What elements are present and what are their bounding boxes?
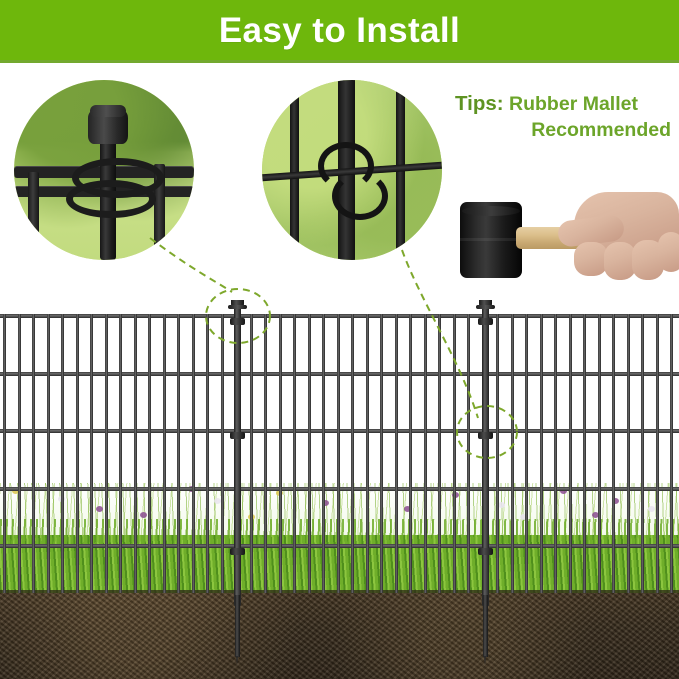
fence-bar: [351, 314, 354, 593]
header-banner: Easy to Install: [0, 0, 679, 60]
fence-bar: [569, 314, 572, 593]
fence-bar: [337, 314, 340, 593]
fence-bar: [32, 314, 35, 593]
fence-bar: [105, 314, 108, 593]
fence-bar: [395, 314, 398, 593]
tips-line-2: Recommended: [455, 118, 679, 144]
fence-post-2: [482, 306, 489, 606]
fence-bar: [409, 314, 412, 593]
rubber-mallet-illustration: [452, 190, 679, 290]
post-clip-1-2: [230, 432, 245, 439]
fence-rail-2: [0, 372, 679, 376]
banner-underline: [0, 60, 679, 63]
tips-label: Tips:: [455, 92, 504, 115]
fence-bar: [148, 314, 151, 593]
fence-bar: [90, 314, 93, 593]
fence-bar: [670, 314, 673, 593]
ground-stake-1: [235, 595, 240, 657]
fence-bar: [598, 314, 601, 593]
fence-bar: [192, 314, 195, 593]
page-title: Easy to Install: [219, 13, 460, 48]
fence-bar: [250, 314, 253, 593]
detail-s-hook-lower: [332, 172, 388, 220]
fence-bar: [540, 314, 543, 593]
fence-bar: [308, 314, 311, 593]
post-clip-2-1: [478, 318, 493, 325]
fence-bar: [177, 314, 180, 593]
post-clip-1-1: [230, 318, 245, 325]
fence-rail-1: [0, 314, 679, 318]
callout-circle-post-cap: [14, 80, 194, 260]
fence-bar: [554, 314, 557, 593]
finger-index: [574, 242, 608, 276]
tips-line-1-text: Rubber Mallet: [509, 93, 638, 115]
fence-bar: [438, 314, 441, 593]
detail-mesh-bar-1: [290, 80, 299, 260]
post-clip-1-3: [230, 548, 245, 555]
fence-bar: [583, 314, 586, 593]
detail-post-cap-nut: [88, 110, 128, 144]
fence-bar: [3, 314, 6, 593]
fence-bar: [627, 314, 630, 593]
fence-bar: [612, 314, 615, 593]
fence-bar: [61, 314, 64, 593]
post-cap-1: [231, 300, 244, 306]
fence-bar: [424, 314, 427, 593]
post-cap-2: [479, 300, 492, 306]
fence-bar: [496, 314, 499, 593]
fence-rail-3: [0, 429, 679, 433]
product-infographic: Easy to Install Tips: Rubber Mallet Reco…: [0, 0, 679, 679]
detail-clip-loop-lower: [66, 180, 156, 218]
fence-bar: [47, 314, 50, 593]
fence-rail-5: [0, 544, 679, 548]
fence-bar: [366, 314, 369, 593]
fence-bar: [525, 314, 528, 593]
ground-stake-2: [483, 595, 488, 657]
fence-bar: [656, 314, 659, 593]
fence-bar: [119, 314, 122, 593]
fence-scene: [0, 300, 679, 679]
post-clip-2-2: [478, 432, 493, 439]
fence-bar: [641, 314, 644, 593]
fence-bar: [134, 314, 137, 593]
detail-mesh-bar-left: [28, 172, 39, 260]
fence-bar: [163, 314, 166, 593]
finger-pinky: [658, 232, 679, 272]
mallet-head: [460, 202, 522, 278]
fence-bar: [322, 314, 325, 593]
callout-circle-s-hook: [262, 80, 442, 260]
fence-rail-4: [0, 487, 679, 491]
fence-bar: [18, 314, 21, 593]
fence-bar: [76, 314, 79, 593]
tips-line-2-text: Recommended: [531, 119, 671, 141]
post-clip-2-3: [478, 548, 493, 555]
fence-bar: [206, 314, 209, 593]
fence-post-1: [234, 306, 241, 606]
fence-bar: [453, 314, 456, 593]
fence-bar: [511, 314, 514, 593]
tips-text: Tips: Rubber Mallet Recommended: [455, 90, 679, 143]
fence-bar: [380, 314, 383, 593]
tips-line-1: Tips: Rubber Mallet: [455, 90, 679, 118]
fence-bar: [221, 314, 224, 593]
fence-bar: [264, 314, 267, 593]
fence-bar: [293, 314, 296, 593]
fence-panels: [0, 300, 679, 679]
fence-bar: [467, 314, 470, 593]
fence-bar: [279, 314, 282, 593]
